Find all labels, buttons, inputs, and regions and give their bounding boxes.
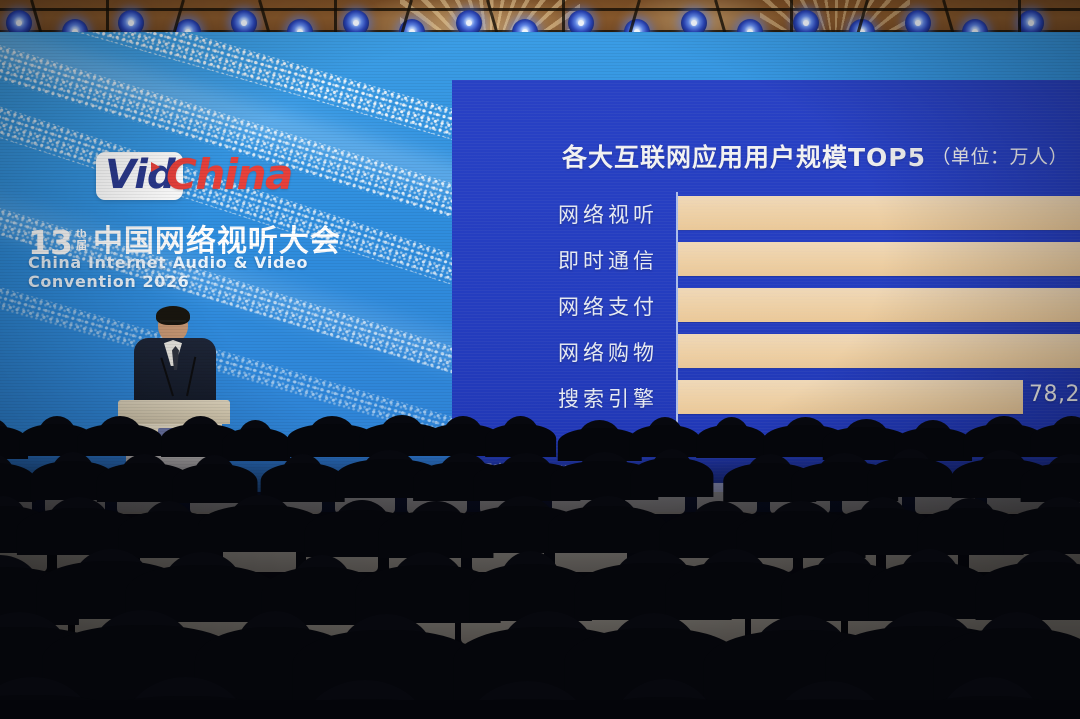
play-triangle-icon: [151, 162, 160, 172]
chart-row: 搜索引擎78,206: [452, 376, 1080, 420]
chair-back: [655, 598, 745, 644]
audience-shoulders: [356, 565, 501, 623]
audience-shoulders: [825, 626, 1026, 701]
conference-photo: Vid China 13th届中国网络视听大会 China Internet A…: [0, 0, 1080, 719]
audience-shoulders: [238, 699, 491, 719]
chart-row: 即时通信109,358: [452, 238, 1080, 282]
audience-shoulders: [16, 508, 140, 555]
chart-category-label: 网络购物: [452, 337, 658, 367]
audience-shoulders: [401, 699, 654, 719]
audience-shoulders: [305, 510, 419, 557]
slide-header: 各大互联网应用用户规模TOP5 （单位：万人）: [452, 138, 1080, 174]
audience-member: [300, 680, 430, 719]
audience-shoulders: [660, 511, 779, 558]
chair-back: [389, 535, 462, 572]
conference-title-line: 13th届中国网络视听大会: [28, 216, 358, 252]
audience-shoulders: [292, 630, 481, 705]
audience-member: [291, 555, 353, 623]
audience-shoulders: [884, 696, 1080, 719]
audience-member: [898, 549, 961, 617]
chair-back: [969, 535, 1042, 572]
chair-back: [57, 535, 130, 572]
audience-member: [771, 681, 889, 719]
chair-back: [171, 598, 261, 644]
chart-row: 网络支付101,655: [452, 284, 1080, 328]
podium-logo-subtext: [152, 439, 214, 443]
audience-member: [1010, 550, 1080, 618]
edition-ordinal-th: th: [73, 228, 90, 240]
chart-category-label: 即时通信: [452, 245, 658, 275]
chart-value-label: 78,206: [1029, 382, 1080, 407]
china-wordmark: China: [166, 154, 292, 196]
audience-shoulders: [665, 562, 803, 620]
chair-back: [331, 672, 446, 719]
chair-back: [75, 598, 165, 644]
conference-name-cn: 中国网络视听大会: [93, 224, 341, 259]
audience-shoulders: [453, 627, 643, 702]
chair-back: [848, 598, 938, 644]
chart-bar: [678, 288, 1080, 322]
audience-shoulders: [118, 511, 220, 558]
chair-back: [679, 672, 794, 719]
chair-back: [140, 535, 213, 572]
audience-member: [613, 550, 693, 618]
audience-shoulders: [462, 506, 585, 553]
audience-member: [698, 549, 769, 617]
audience-shoulders: [262, 567, 382, 625]
audience-member: [751, 615, 851, 703]
glasses-icon: [160, 320, 186, 326]
audience-shoulders: [0, 567, 79, 625]
chair-back: [306, 535, 379, 572]
audience-shoulders: [198, 505, 324, 552]
chair-back: [461, 598, 551, 644]
audience-shoulders: [470, 564, 592, 622]
chart-row: 网络购物93,689: [452, 330, 1080, 374]
chart-category-label: 网络支付: [452, 291, 658, 321]
chart-bar: [678, 334, 1080, 368]
slide-unit-note: （单位：万人）: [931, 142, 1068, 169]
audience-shoulders: [933, 628, 1080, 703]
chair-back: [472, 535, 545, 572]
presentation-slide: 各大互联网应用用户规模TOP5 （单位：万人） 网络视听109,875即时通信1…: [452, 80, 1080, 492]
audience-member: [608, 613, 700, 701]
chair-back: [911, 672, 1026, 719]
audience-shoulders: [975, 562, 1080, 620]
chair-back: [0, 598, 68, 644]
audience-shoulders: [561, 697, 769, 719]
audience-shoulders: [195, 627, 355, 702]
chair-back: [1041, 598, 1080, 644]
audience-shoulders: [0, 506, 52, 553]
audience-member: [391, 552, 465, 620]
led-screen: Vid China 13th届中国网络视听大会 China Internet A…: [0, 32, 1080, 492]
audience-member: [73, 549, 149, 617]
audience-member: [0, 612, 70, 700]
chair-back: [555, 535, 628, 572]
audience-member: [611, 679, 718, 719]
chair-back: [99, 672, 214, 719]
chair-back: [563, 672, 678, 719]
vid-wordmark: Vid: [105, 152, 175, 198]
audience-member: [936, 677, 1044, 719]
audience-shoulders: [782, 563, 908, 621]
audience-shoulders: [0, 627, 118, 702]
bar-chart: 网络视听109,875即时通信109,358网络支付101,655网络购物93,…: [452, 192, 1080, 432]
chart-category-label: 搜索引擎: [452, 383, 658, 413]
audience-shoulders: [714, 699, 945, 719]
audience-member: [91, 610, 194, 698]
audience-shoulders: [832, 508, 934, 555]
audience-shoulders: [1003, 507, 1080, 554]
audience-shoulders: [575, 563, 732, 621]
chair-back: [223, 535, 296, 572]
chair-back: [0, 535, 47, 572]
audience-shoulders: [126, 565, 279, 623]
audience-shoulders: [703, 630, 898, 705]
chair-back: [268, 598, 358, 644]
chart-bar: [678, 380, 1023, 414]
chair-back: [795, 672, 910, 719]
foreground-audience-mass: [0, 700, 1080, 719]
audience-member: [463, 681, 593, 719]
audience-member: [0, 555, 40, 623]
audience-shoulders: [37, 561, 186, 619]
chair-back: [886, 535, 959, 572]
audience-member: [163, 552, 241, 620]
chart-bar: [678, 196, 1080, 230]
audience-member: [234, 611, 316, 699]
chair-back: [365, 598, 455, 644]
chair-back: [803, 535, 876, 572]
chair-back: [1027, 672, 1080, 719]
audience-shoulders: [379, 511, 494, 558]
chair-back: [1052, 535, 1080, 572]
audience-shoulders: [564, 628, 744, 703]
audience-member: [0, 677, 95, 719]
chair-back: [637, 535, 710, 572]
audience-member: [499, 611, 596, 699]
audience-member: [874, 611, 977, 699]
chair-back: [751, 598, 841, 644]
chair-back: [215, 672, 330, 719]
chair-back: [558, 598, 648, 644]
audience-member: [499, 551, 562, 619]
audience-shoulders: [42, 625, 244, 700]
edition-ordinal-jie: 届: [73, 240, 90, 252]
chair-back: [945, 598, 1035, 644]
chair-back: [720, 535, 793, 572]
podium-top: [118, 400, 230, 424]
podium-logo: [158, 428, 204, 437]
edition-number: 13: [28, 223, 72, 262]
chair-back: [0, 672, 98, 719]
edition-ordinal: th届: [73, 228, 90, 252]
audience-member: [122, 677, 249, 719]
vidchina-logo: Vid China: [28, 150, 358, 212]
event-logo-lockup: Vid China 13th届中国网络视听大会 China Internet A…: [28, 150, 358, 291]
audience-member: [812, 551, 876, 619]
audience-shoulders: [0, 695, 155, 719]
audience-shoulders: [737, 511, 866, 558]
chart-bar: [678, 242, 1080, 276]
audience-shoulders: [548, 506, 668, 553]
chair-back: [447, 672, 562, 719]
audience-shoulders: [61, 696, 309, 719]
stage-apron: [0, 452, 1080, 512]
chart-row: 网络视听109,875: [452, 192, 1080, 236]
audience-shoulders: [868, 562, 991, 620]
chart-category-label: 网络视听: [452, 199, 658, 229]
audience-member: [974, 612, 1060, 700]
slide-title: 各大互联网应用用户规模TOP5: [562, 138, 926, 174]
audience-member: [338, 614, 435, 702]
audience-shoulders: [917, 508, 1024, 555]
